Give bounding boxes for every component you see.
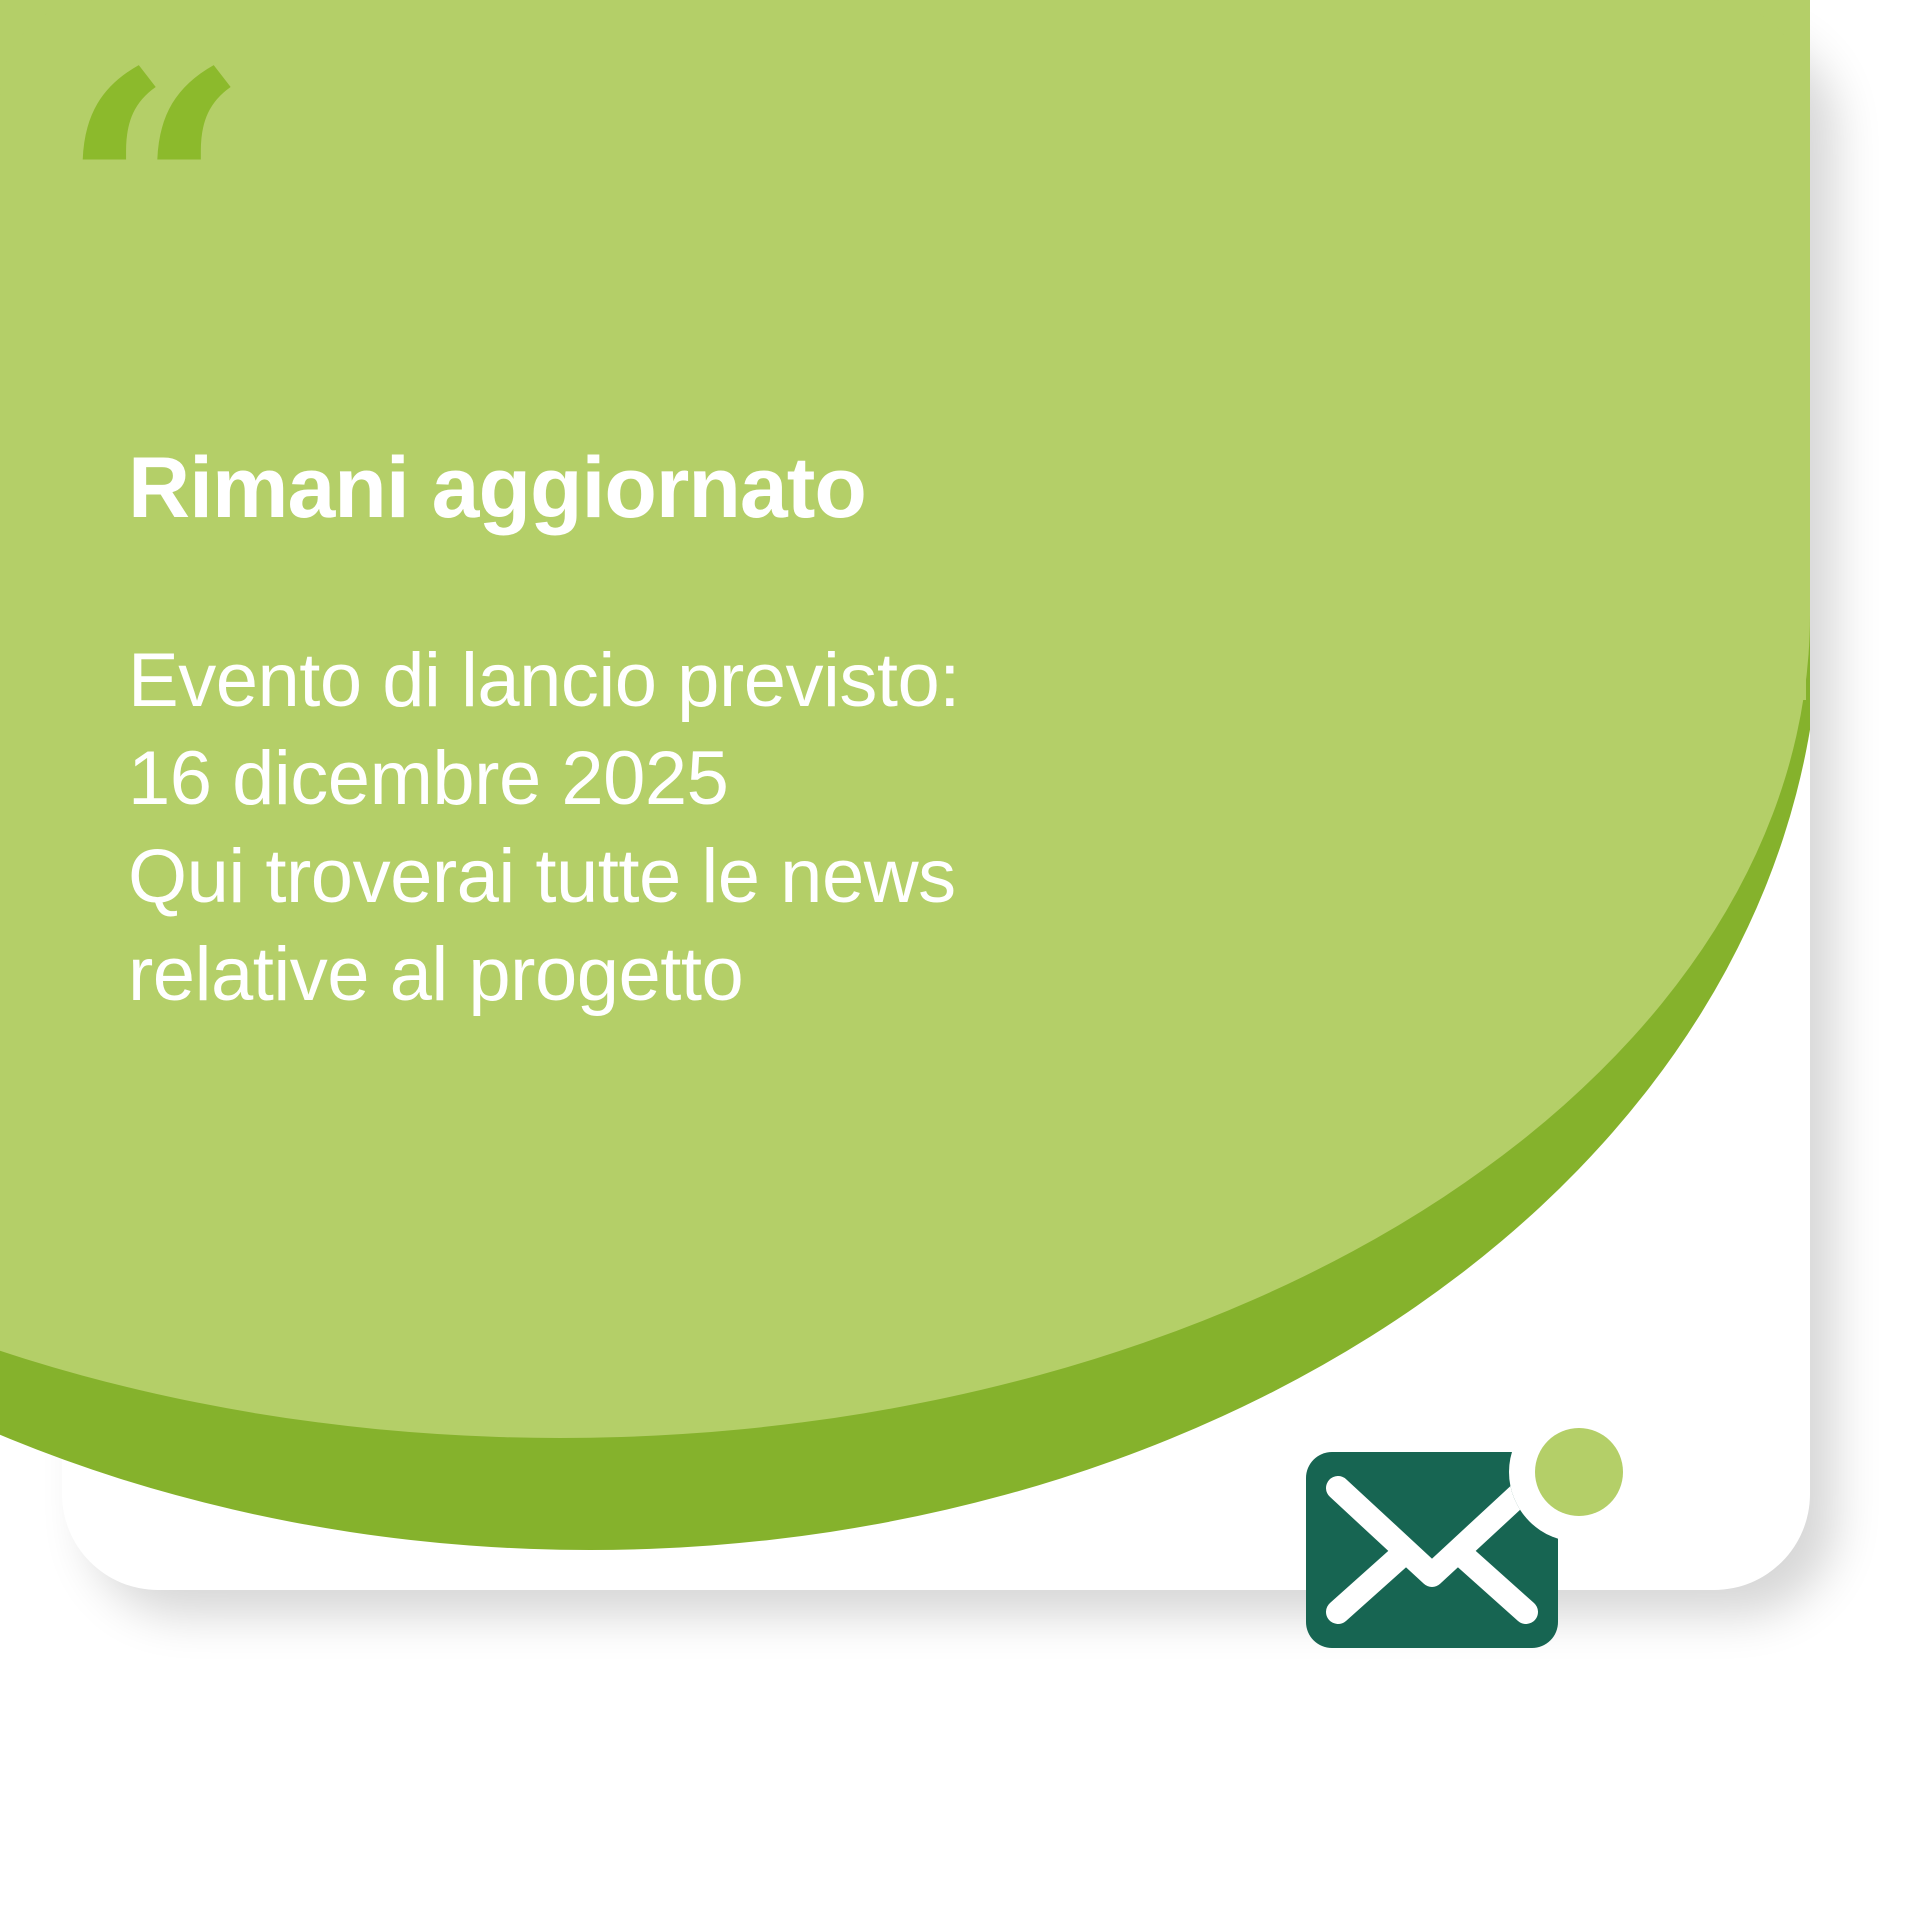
body-line-1: Evento di lancio previsto:	[128, 632, 1478, 730]
page-title: Rimani aggiornato	[128, 440, 1478, 536]
body-line-2: 16 dicembre 2025	[128, 730, 1478, 828]
notification-dot-icon	[1535, 1428, 1623, 1516]
quote-open-icon: “	[60, 54, 320, 244]
card-body-text: Evento di lancio previsto: 16 dicembre 2…	[128, 632, 1478, 1024]
body-line-4: relative al progetto	[128, 926, 1478, 1024]
card-text-block: Rimani aggiornato Evento di lancio previ…	[128, 440, 1478, 1024]
body-line-3: Qui troverai tutte le news	[128, 828, 1478, 926]
card-canvas: “ Rimani aggiornato Evento di lancio pre…	[0, 0, 1929, 1921]
mail-envelope-icon	[1300, 1425, 1648, 1705]
